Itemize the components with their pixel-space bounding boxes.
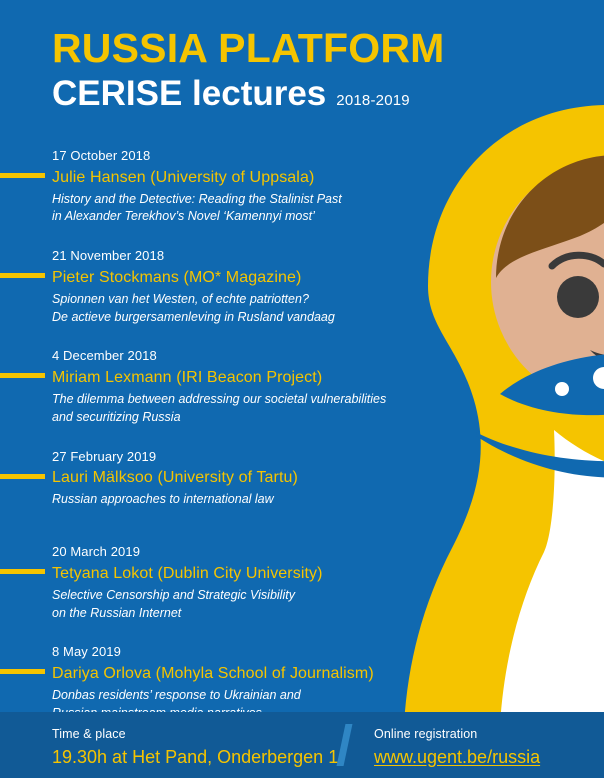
doll-face — [491, 157, 604, 407]
lecture-speaker: Miriam Lexmann (IRI Beacon Project) — [52, 366, 460, 389]
lecture-date: 20 March 2019 — [52, 543, 460, 561]
lecture-speaker: Lauri Mälksoo (University of Tartu) — [52, 466, 460, 489]
time-place-value: 19.30h at Het Pand, Onderbergen 1 — [52, 745, 338, 770]
poster-header: RUSSIA PLATFORM CERISE lectures 2018-201… — [52, 28, 452, 111]
academic-year-label: 2018-2019 — [336, 92, 410, 109]
registration-label: Online registration — [374, 726, 540, 744]
bullet-dash-icon — [0, 373, 45, 378]
poster: RUSSIA PLATFORM CERISE lectures 2018-201… — [0, 0, 604, 778]
list-item: 8 May 2019 Dariya Orlova (Mohyla School … — [0, 643, 460, 722]
lecture-list: 17 October 2018 Julie Hansen (University… — [0, 147, 460, 744]
list-item: 20 March 2019 Tetyana Lokot (Dublin City… — [0, 543, 460, 622]
bullet-dash-icon — [0, 669, 45, 674]
lecture-topic-line: in Alexander Terekhov’s Novel ‘Kamennyi … — [52, 208, 460, 226]
lecture-topic-line: Russian approaches to international law — [52, 491, 460, 509]
list-item: 21 November 2018 Pieter Stockmans (MO* M… — [0, 247, 460, 326]
list-item: 17 October 2018 Julie Hansen (University… — [0, 147, 460, 226]
doll-leaf-decorations — [452, 349, 604, 478]
doll-apron — [500, 430, 604, 725]
lecture-topic-line: De actieve burgersamenleving in Rusland … — [52, 309, 460, 327]
subtitle-row: CERISE lectures 2018-2019 — [52, 76, 452, 111]
lecture-date: 17 October 2018 — [52, 147, 460, 165]
lecture-date: 21 November 2018 — [52, 247, 460, 265]
lecture-speaker: Julie Hansen (University of Uppsala) — [52, 166, 460, 189]
lecture-topic-line: The dilemma between addressing our socie… — [52, 391, 460, 409]
registration-block: Online registration www.ugent.be/russia — [374, 726, 540, 770]
lecture-topic-line: Donbas residents’ response to Ukrainian … — [52, 687, 460, 705]
bullet-dash-icon — [0, 273, 45, 278]
bullet-dash-icon — [0, 173, 45, 178]
lecture-topic-line: Selective Censorship and Strategic Visib… — [52, 587, 460, 605]
page-subtitle: CERISE lectures — [52, 76, 326, 111]
time-and-place-block: Time & place 19.30h at Het Pand, Onderbe… — [52, 726, 338, 770]
lecture-topic-line: and securitizing Russia — [52, 409, 460, 427]
poster-footer: Time & place 19.30h at Het Pand, Onderbe… — [0, 712, 604, 778]
lecture-date: 8 May 2019 — [52, 643, 460, 661]
doll-hair — [496, 155, 604, 278]
lecture-topic-line: on the Russian Internet — [52, 605, 460, 623]
doll-mouth — [590, 348, 604, 366]
lecture-speaker: Pieter Stockmans (MO* Magazine) — [52, 266, 460, 289]
lecture-speaker: Tetyana Lokot (Dublin City University) — [52, 562, 460, 585]
list-item: 4 December 2018 Miriam Lexmann (IRI Beac… — [0, 347, 460, 426]
lecture-date: 4 December 2018 — [52, 347, 460, 365]
lecture-topic-line: Spionnen van het Westen, of echte patrio… — [52, 291, 460, 309]
lecture-date: 27 February 2019 — [52, 448, 460, 466]
lecture-topic-line: History and the Detective: Reading the S… — [52, 191, 460, 209]
bullet-dash-icon — [0, 569, 45, 574]
page-title: RUSSIA PLATFORM — [52, 28, 452, 69]
doll-eyebrows — [552, 255, 604, 266]
list-item: 27 February 2019 Lauri Mälksoo (Universi… — [0, 448, 460, 509]
bullet-dash-icon — [0, 474, 45, 479]
time-place-label: Time & place — [52, 726, 338, 744]
doll-eyes — [557, 276, 604, 318]
slash-divider-icon — [337, 724, 353, 766]
registration-link[interactable]: www.ugent.be/russia — [374, 745, 540, 770]
lecture-speaker: Dariya Orlova (Mohyla School of Journali… — [52, 662, 460, 685]
